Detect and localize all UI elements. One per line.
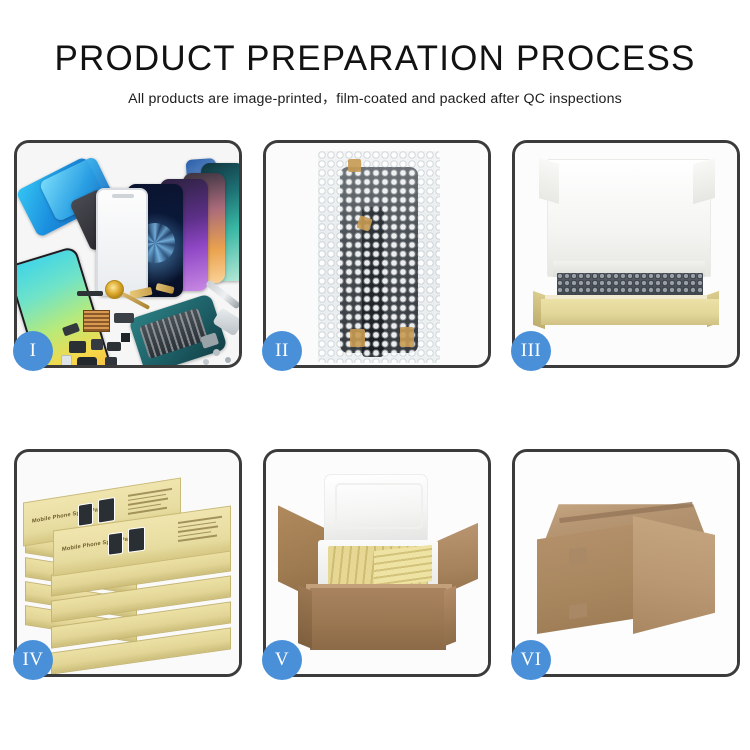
step-panel-1[interactable]: I: [14, 140, 242, 368]
speaker-coil-part-icon: [105, 280, 124, 299]
tape-piece-3-icon: [350, 329, 365, 347]
yellow-box-front-icon: [541, 299, 719, 325]
step-badge-2: II: [262, 331, 302, 371]
earpiece-bar-part-icon: [77, 291, 103, 296]
copper-mesh-part-icon: [83, 310, 110, 332]
carton-tape-2-icon: [569, 603, 587, 620]
step-panel-5[interactable]: V: [263, 449, 491, 677]
white-box-lid-icon: [547, 159, 711, 277]
module-part-5-icon: [105, 357, 117, 365]
tape-piece-4-icon: [400, 327, 414, 347]
page-title: PRODUCT PREPARATION PROCESS: [0, 38, 750, 80]
module-part-2-icon: [91, 339, 103, 350]
step-image-foam-carton: [266, 452, 488, 674]
step-panel-6[interactable]: VI: [512, 449, 740, 677]
module-part-3-icon: [107, 342, 121, 351]
step-badge-6: VI: [511, 640, 551, 680]
step-badge-3: III: [511, 331, 551, 371]
process-step-grid: I II III: [14, 140, 736, 685]
box-label-text-1: Mobile Phone Spare Parts: [32, 506, 106, 525]
step-image-products: [17, 143, 239, 365]
screw-1-icon: [213, 349, 220, 356]
step-badge-5: V: [262, 640, 302, 680]
step-image-bubble-wrap: [266, 143, 488, 365]
styrofoam-lid-icon: [324, 474, 428, 546]
tape-piece-1-icon: [348, 159, 361, 172]
carton-right-face-icon: [633, 516, 715, 634]
screen-protector-icon: [96, 188, 148, 296]
carton-left-face-icon: [537, 524, 635, 634]
label-phone-thumb-4-icon: [128, 527, 145, 553]
page-subtitle: All products are image-printed，film-coat…: [0, 88, 750, 108]
bubble-texture-icon: [318, 151, 440, 363]
module-part-4-icon: [77, 357, 97, 365]
label-spec-lines-2: [178, 516, 222, 550]
chip-part-icon: [121, 333, 130, 342]
step-image-sealed-carton: [515, 452, 737, 674]
lid-flap-left-icon: [539, 158, 559, 204]
carton-body-icon: [310, 588, 446, 650]
step-badge-1: I: [13, 331, 53, 371]
step-panel-4[interactable]: Mobile Phone Spare Parts Mobile Phone Sp…: [14, 449, 242, 677]
carton-tape-1-icon: [569, 547, 587, 566]
label-phone-thumb-1-icon: [78, 502, 93, 526]
label-phone-thumb-3-icon: [108, 532, 123, 556]
step-panel-3[interactable]: III: [512, 140, 740, 368]
step-panel-2[interactable]: II: [263, 140, 491, 368]
step-image-inner-box: [515, 143, 737, 365]
lid-flap-right-icon: [693, 158, 715, 204]
screw-2-icon: [225, 357, 231, 363]
sim-tray-part-icon: [61, 355, 72, 365]
step-image-stacked-boxes: Mobile Phone Spare Parts Mobile Phone Sp…: [17, 452, 239, 674]
step-badge-4: IV: [13, 640, 53, 680]
screw-3-icon: [203, 359, 209, 365]
bubble-wrap-bag-icon: [318, 151, 440, 363]
page-header: PRODUCT PREPARATION PROCESS All products…: [0, 0, 750, 108]
yellow-boxes-row-2-icon: [374, 545, 432, 587]
box-stack: Mobile Phone Spare Parts Mobile Phone Sp…: [23, 466, 235, 666]
connector-part-icon: [114, 313, 134, 323]
module-part-1-icon: [69, 341, 86, 353]
box-label-text-2: Mobile Phone Spare Parts: [62, 535, 136, 553]
label-phone-thumb-2-icon: [98, 497, 115, 524]
